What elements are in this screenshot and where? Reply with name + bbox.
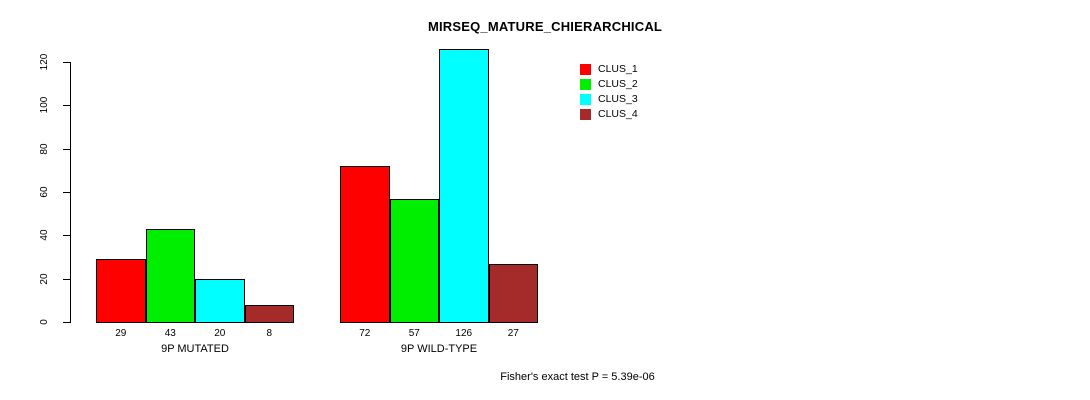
y-axis-tick-label: 20 [34,273,56,285]
x-axis-line-group-1 [96,322,294,323]
y-axis-tick-label-text: 40 [39,224,51,246]
x-axis-group-label: 9P MUTATED [96,342,294,357]
y-axis-tick-label-text: 0 [39,311,51,333]
y-axis-tick [63,192,70,193]
legend-item-label: CLUS_3 [598,94,638,105]
bar-value-label: 20 [195,327,245,340]
bar [439,49,489,322]
y-axis-tick-label: 100 [34,99,56,111]
legend-item-label: CLUS_4 [598,109,638,120]
y-axis-tick-label-text: 20 [39,268,51,290]
bar-chart-figure: MIRSEQ_MATURE_CHIERARCHICAL number of ca… [0,0,1090,400]
y-axis-tick [63,322,70,323]
bar [489,264,539,323]
legend-color-swatch [580,109,591,120]
bar [96,259,146,322]
y-axis-tick [63,149,70,150]
y-axis-tick [63,62,70,63]
legend-item: CLUS_1 [580,62,638,77]
legend: CLUS_1CLUS_2CLUS_3CLUS_4 [580,62,638,122]
bar-value-label: 126 [439,327,489,340]
y-axis-tick [63,279,70,280]
legend-item: CLUS_2 [580,77,638,92]
legend-item-label: CLUS_2 [598,79,638,90]
bar [390,199,440,323]
bar [195,279,245,322]
bar-value-label: 72 [340,327,390,340]
legend-color-swatch [580,94,591,105]
y-axis-tick-label-text: 60 [39,181,51,203]
legend-item: CLUS_3 [580,92,638,107]
bar-value-label: 29 [96,327,146,340]
bar [146,229,196,322]
legend-item: CLUS_4 [580,107,638,122]
x-axis-line-group-2 [340,322,538,323]
chart-title: MIRSEQ_MATURE_CHIERARCHICAL [15,19,1075,34]
y-axis-tick-label: 80 [34,143,56,155]
bar-value-label: 8 [245,327,295,340]
bar-value-label: 43 [146,327,196,340]
y-axis-tick-label-text: 80 [39,138,51,160]
bar [340,166,390,322]
y-axis-label: number of cases [0,207,75,223]
y-axis-line [70,62,71,323]
y-axis-tick-label: 0 [34,316,56,328]
legend-color-swatch [580,79,591,90]
y-axis-tick-label-text: 100 [39,94,51,116]
legend-color-swatch [580,64,591,75]
y-axis-tick [63,235,70,236]
fisher-test-annotation: Fisher's exact test P = 5.39e-06 [65,371,1090,383]
x-axis-group-label: 9P WILD-TYPE [340,342,538,357]
bar-value-label: 27 [489,327,539,340]
bar-value-label: 57 [390,327,440,340]
y-axis-tick-label: 60 [34,186,56,198]
y-axis-tick-label: 120 [34,56,56,68]
y-axis-tick [63,105,70,106]
y-axis-tick-label: 40 [34,229,56,241]
bar [245,305,295,322]
legend-item-label: CLUS_1 [598,64,638,75]
y-axis-tick-label-text: 120 [39,51,51,73]
